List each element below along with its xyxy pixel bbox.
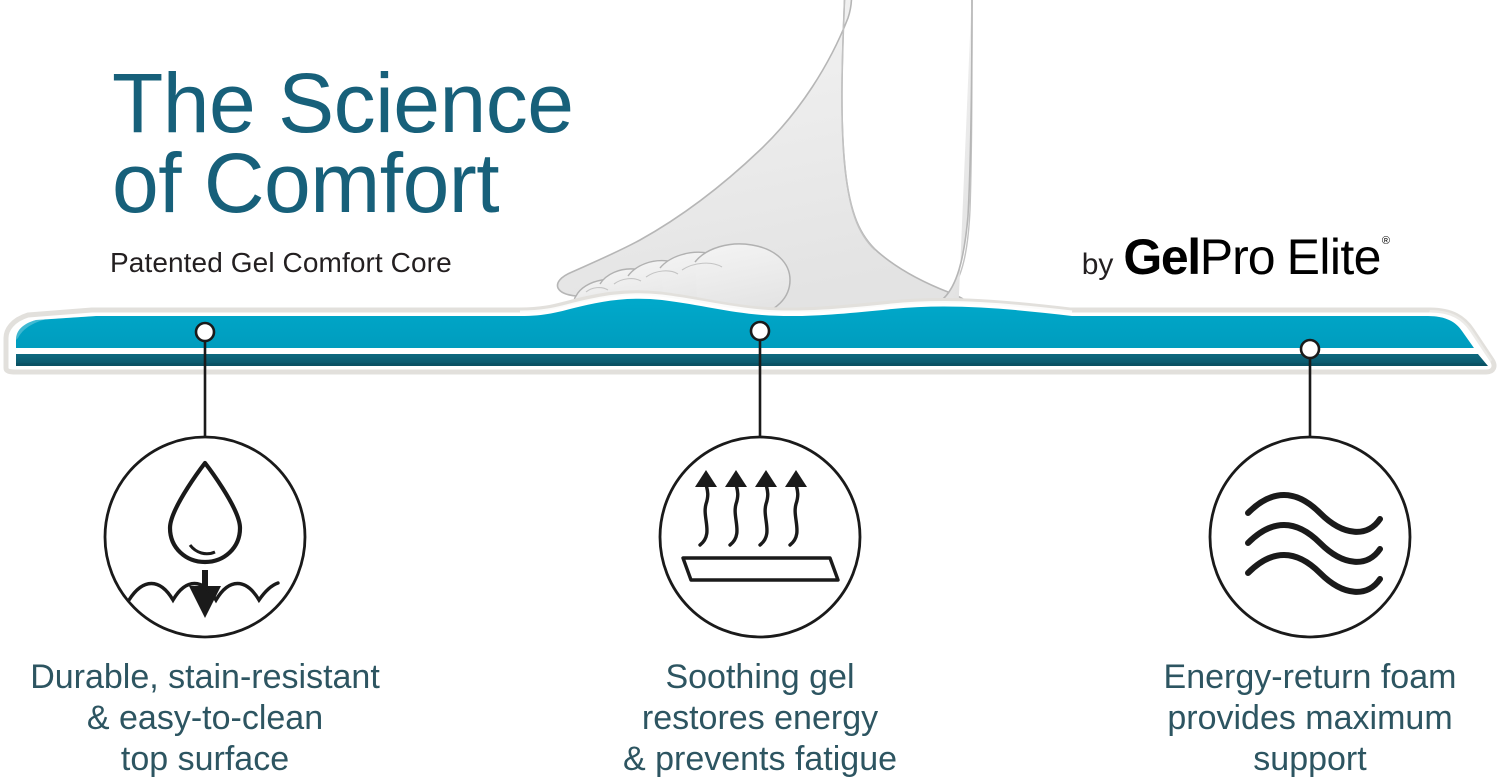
brand-lockup: by Gel Pro Elite ®: [1082, 232, 1390, 282]
feature-circle-2: [660, 437, 860, 637]
brand-pro-text: Pro: [1200, 232, 1275, 282]
core-label: Patented Gel Comfort Core: [110, 247, 452, 279]
brand-elite-text: Elite: [1287, 232, 1381, 282]
feature-caption-1: Durable, stain-resistant & easy-to-clean…: [0, 657, 440, 778]
brand-gel-text: Gel: [1123, 232, 1199, 282]
feature-caption-2: Soothing gel restores energy & prevents …: [525, 657, 995, 778]
callout-energy-return-foam: [1210, 340, 1410, 637]
brand-registered-mark: ®: [1382, 236, 1390, 247]
brand-by-text: by: [1082, 248, 1114, 282]
infographic-canvas: The Science of Comfort Patented Gel Comf…: [0, 0, 1500, 778]
feature-caption-3: Energy-return foam provides maximum supp…: [1075, 657, 1500, 778]
page-title: The Science of Comfort: [112, 64, 732, 224]
gelpro-elite-logo: Gel Pro Elite ®: [1123, 232, 1390, 282]
